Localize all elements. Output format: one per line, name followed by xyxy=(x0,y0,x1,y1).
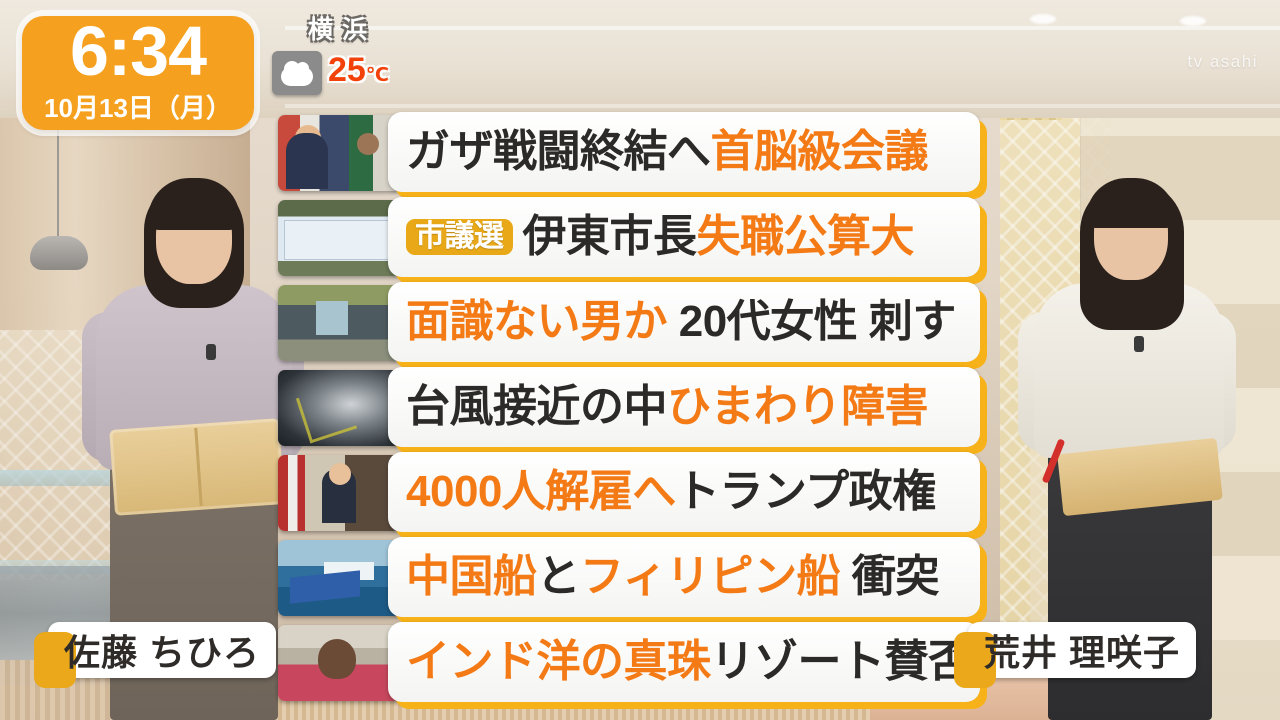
headline-text: 4000人解雇へトランプ政権 xyxy=(406,470,936,514)
headline-bar[interactable]: ガザ戦闘終結へ首脳級会議 xyxy=(388,112,980,192)
headline-text: 台風接近の中ひまわり障害 xyxy=(406,385,928,429)
headline-row[interactable]: 中国船とフィリピン船 衝突 xyxy=(278,537,990,621)
headline-bar[interactable]: 中国船とフィリピン船 衝突 xyxy=(388,537,980,617)
headline-text: 中国船とフィリピン船 衝突 xyxy=(406,555,939,599)
headline-thumbnail[interactable] xyxy=(278,540,400,616)
headline-thumbnail[interactable] xyxy=(278,625,400,701)
headline-plain-segment: トランプ政権 xyxy=(676,467,936,516)
headline-bar[interactable]: 4000人解雇へトランプ政権 xyxy=(388,452,980,532)
clock-panel: 6:34 10月13日（月） xyxy=(22,16,254,130)
cloudy-icon xyxy=(272,51,322,95)
weather-temperature: 25℃ xyxy=(328,48,389,98)
anchor-name-left: 佐藤 ちひろ xyxy=(64,624,260,676)
current-date: 10月13日（月） xyxy=(22,93,254,123)
temperature-unit: ℃ xyxy=(366,65,389,86)
headline-text: 面識ない男か 20代女性 刺す xyxy=(406,300,956,344)
headline-row[interactable]: インド洋の真珠リゾート賛否 xyxy=(278,622,990,706)
headline-row[interactable]: 市議選伊東市長失職公算大 xyxy=(278,197,990,281)
weather-widget: 横浜 25℃ xyxy=(272,14,412,106)
headline-thumbnail[interactable] xyxy=(278,370,400,446)
headline-bar[interactable]: 台風接近の中ひまわり障害 xyxy=(388,367,980,447)
headline-text: インド洋の真珠リゾート賛否 xyxy=(406,640,972,684)
ceiling-downlight xyxy=(1030,14,1056,24)
headline-thumbnail[interactable] xyxy=(278,285,400,361)
headline-plain-segment: 台風接近の中 xyxy=(406,382,667,431)
anchor-left-script-book xyxy=(109,418,285,516)
ceiling-downlight xyxy=(1180,16,1206,26)
headline-category-badge: 市議選 xyxy=(406,219,513,255)
headline-plain-segment: ガザ戦闘終結へ xyxy=(406,127,711,176)
channel-watermark: tv asahi xyxy=(1187,52,1258,72)
headline-thumbnail[interactable] xyxy=(278,200,400,276)
headline-row[interactable]: 面識ない男か 20代女性 刺す xyxy=(278,282,990,366)
headline-bar[interactable]: インド洋の真珠リゾート賛否 xyxy=(388,622,980,702)
watermark-label: tv asahi xyxy=(1187,52,1258,71)
broadcast-screen: 6:34 10月13日（月） 横浜 25℃ tv asahi ガザ戦闘終結へ首脳… xyxy=(0,0,1280,720)
headline-accent-segment: ひまわり障害 xyxy=(667,382,928,431)
headline-plain-segment: 伊東市長 xyxy=(523,212,697,261)
headline-plain-segment: リゾート賛否 xyxy=(711,637,972,686)
anchor-name-right: 荒井 理咲子 xyxy=(984,624,1180,676)
headline-row[interactable]: 台風接近の中ひまわり障害 xyxy=(278,367,990,451)
headline-text: ガザ戦闘終結へ首脳級会議 xyxy=(406,130,928,174)
anchor-left-lapel-mic xyxy=(206,344,216,360)
headline-bar[interactable]: 市議選伊東市長失職公算大 xyxy=(388,197,980,277)
headline-list: ガザ戦闘終結へ首脳級会議市議選伊東市長失職公算大面識ない男か 20代女性 刺す台… xyxy=(278,112,990,707)
headline-thumbnail[interactable] xyxy=(278,115,400,191)
headline-accent-segment: 4000人解雇へ xyxy=(406,467,676,516)
headline-accent-segment: 失職公算大 xyxy=(697,212,915,261)
headline-accent-segment: 面識ない男か xyxy=(406,297,667,346)
anchor-nameplate-right: 荒井 理咲子 xyxy=(968,622,1196,678)
headline-accent-segment: 首脳級会議 xyxy=(711,127,929,176)
weather-city: 横浜 xyxy=(272,14,412,46)
headline-plain-segment: と xyxy=(537,552,581,601)
headline-row[interactable]: ガザ戦闘終結へ首脳級会議 xyxy=(278,112,990,196)
headline-accent-segment: フィリピン船 xyxy=(580,552,840,601)
anchor-right-hair-front xyxy=(1086,178,1176,228)
headline-plain-segment: 20代女性 刺す xyxy=(667,297,956,346)
headline-bar[interactable]: 面識ない男か 20代女性 刺す xyxy=(388,282,980,362)
headline-text: 市議選伊東市長失職公算大 xyxy=(406,215,914,259)
anchor-left-hair-front xyxy=(148,178,240,230)
temperature-value: 25 xyxy=(328,51,366,89)
headline-accent-segment: インド洋の真珠 xyxy=(406,637,711,686)
current-time: 6:34 xyxy=(22,10,254,92)
headline-row[interactable]: 4000人解雇へトランプ政権 xyxy=(278,452,990,536)
anchor-nameplate-left: 佐藤 ちひろ xyxy=(48,622,276,678)
anchor-right-lapel-mic xyxy=(1134,336,1144,352)
headline-accent-segment: 中国船 xyxy=(406,552,537,601)
headline-thumbnail[interactable] xyxy=(278,455,400,531)
headline-plain-segment: 衝突 xyxy=(840,552,939,601)
